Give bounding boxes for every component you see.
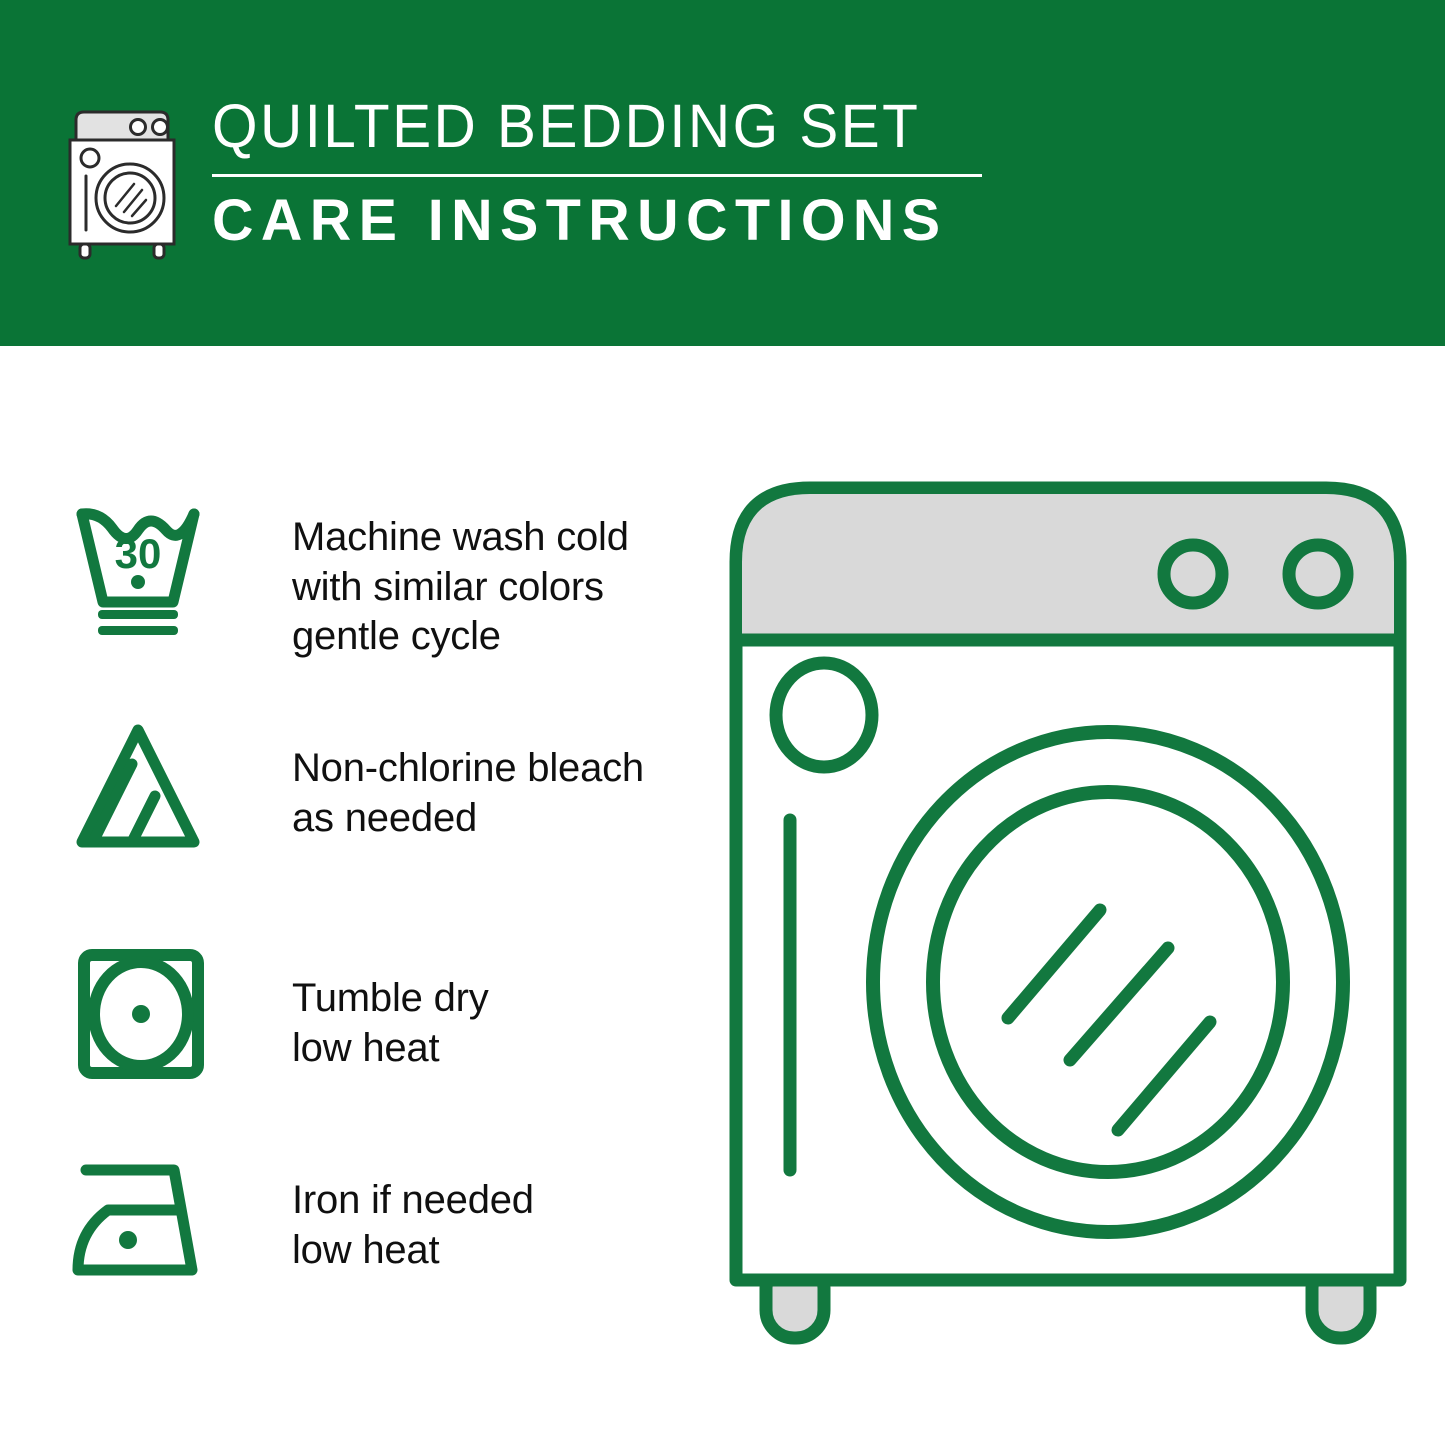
wash-temperature-value: 30	[115, 530, 162, 577]
header-content: QUILTED BEDDING SET CARE INSTRUCTIONS	[62, 96, 982, 264]
page-title: QUILTED BEDDING SET	[212, 96, 951, 157]
header-banner: QUILTED BEDDING SET CARE INSTRUCTIONS	[0, 0, 1445, 346]
care-label: Iron if needed low heat	[292, 1176, 534, 1275]
page-subtitle: CARE INSTRUCTIONS	[212, 192, 974, 250]
header-divider	[212, 174, 982, 177]
machine-knob-right	[1289, 545, 1347, 603]
care-label: Non-chlorine bleach as needed	[292, 744, 644, 843]
care-label: Tumble dry low heat	[292, 974, 489, 1073]
washing-machine-icon	[62, 104, 190, 264]
care-label: Machine wash cold with similar colors ge…	[292, 513, 629, 662]
tumble-dry-icon	[70, 941, 230, 1086]
care-row: Iron if needed low heat	[70, 1146, 534, 1291]
wash-basin-30-icon: 30	[70, 496, 230, 641]
bleach-triangle-icon	[70, 716, 230, 861]
instruction-list: 30 Machine wash cold with similar colors…	[0, 346, 700, 1445]
washing-machine-illustration	[718, 470, 1418, 1370]
care-row: Non-chlorine bleach as needed	[70, 716, 644, 861]
care-row: Tumble dry low heat	[70, 941, 489, 1086]
machine-knob-left	[1164, 545, 1222, 603]
iron-icon	[70, 1146, 230, 1291]
care-instructions-page: QUILTED BEDDING SET CARE INSTRUCTIONS 30…	[0, 0, 1445, 1445]
care-row: 30 Machine wash cold with similar colors…	[70, 496, 629, 662]
header-text-block: QUILTED BEDDING SET CARE INSTRUCTIONS	[212, 96, 982, 250]
